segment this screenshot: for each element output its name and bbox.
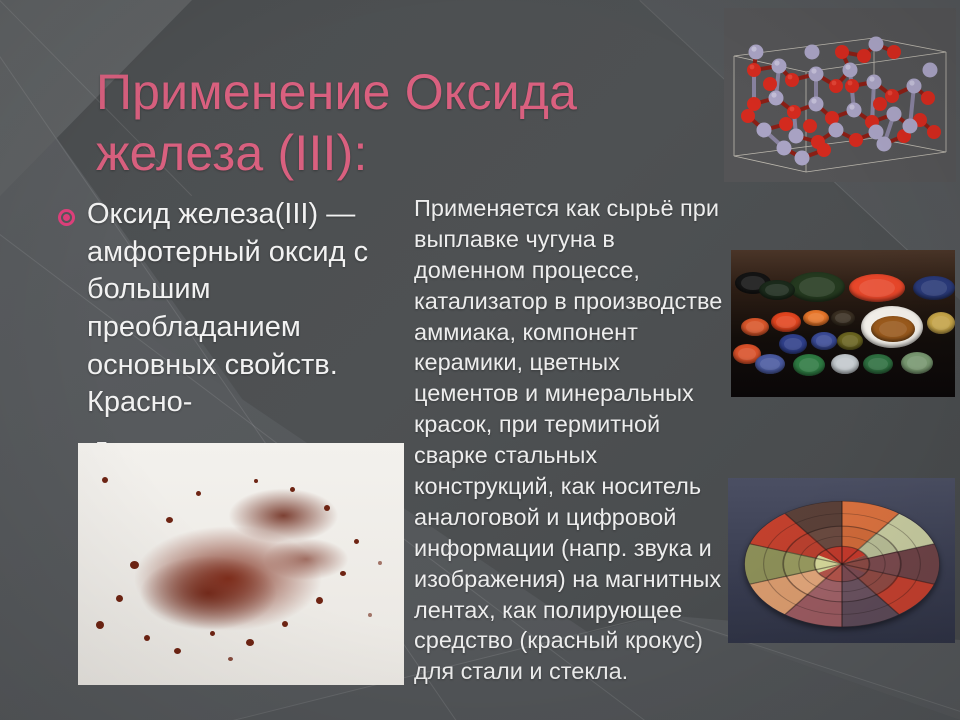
colored-paving-wheel-image bbox=[728, 478, 955, 643]
ceramic-glaze-bowls-image bbox=[731, 250, 955, 397]
bullet-item-text: Оксид железа(III) — амфотерный оксид с б… bbox=[87, 196, 420, 422]
presentation-slide: Применение Оксида железа (III): Оксид же… bbox=[0, 0, 960, 720]
crystal-structure-image bbox=[724, 8, 956, 182]
target-bullet-icon bbox=[58, 209, 75, 226]
powder-heap bbox=[78, 443, 404, 685]
bullet-list: Оксид железа(III) — амфотерный оксид с б… bbox=[58, 196, 420, 422]
slide-title: Применение Оксида железа (III): bbox=[96, 62, 736, 184]
iron-oxide-powder-image bbox=[78, 443, 404, 685]
body-paragraph: Применяется как сырьё при выплавке чугун… bbox=[414, 193, 726, 687]
wheel-disc bbox=[744, 501, 940, 627]
